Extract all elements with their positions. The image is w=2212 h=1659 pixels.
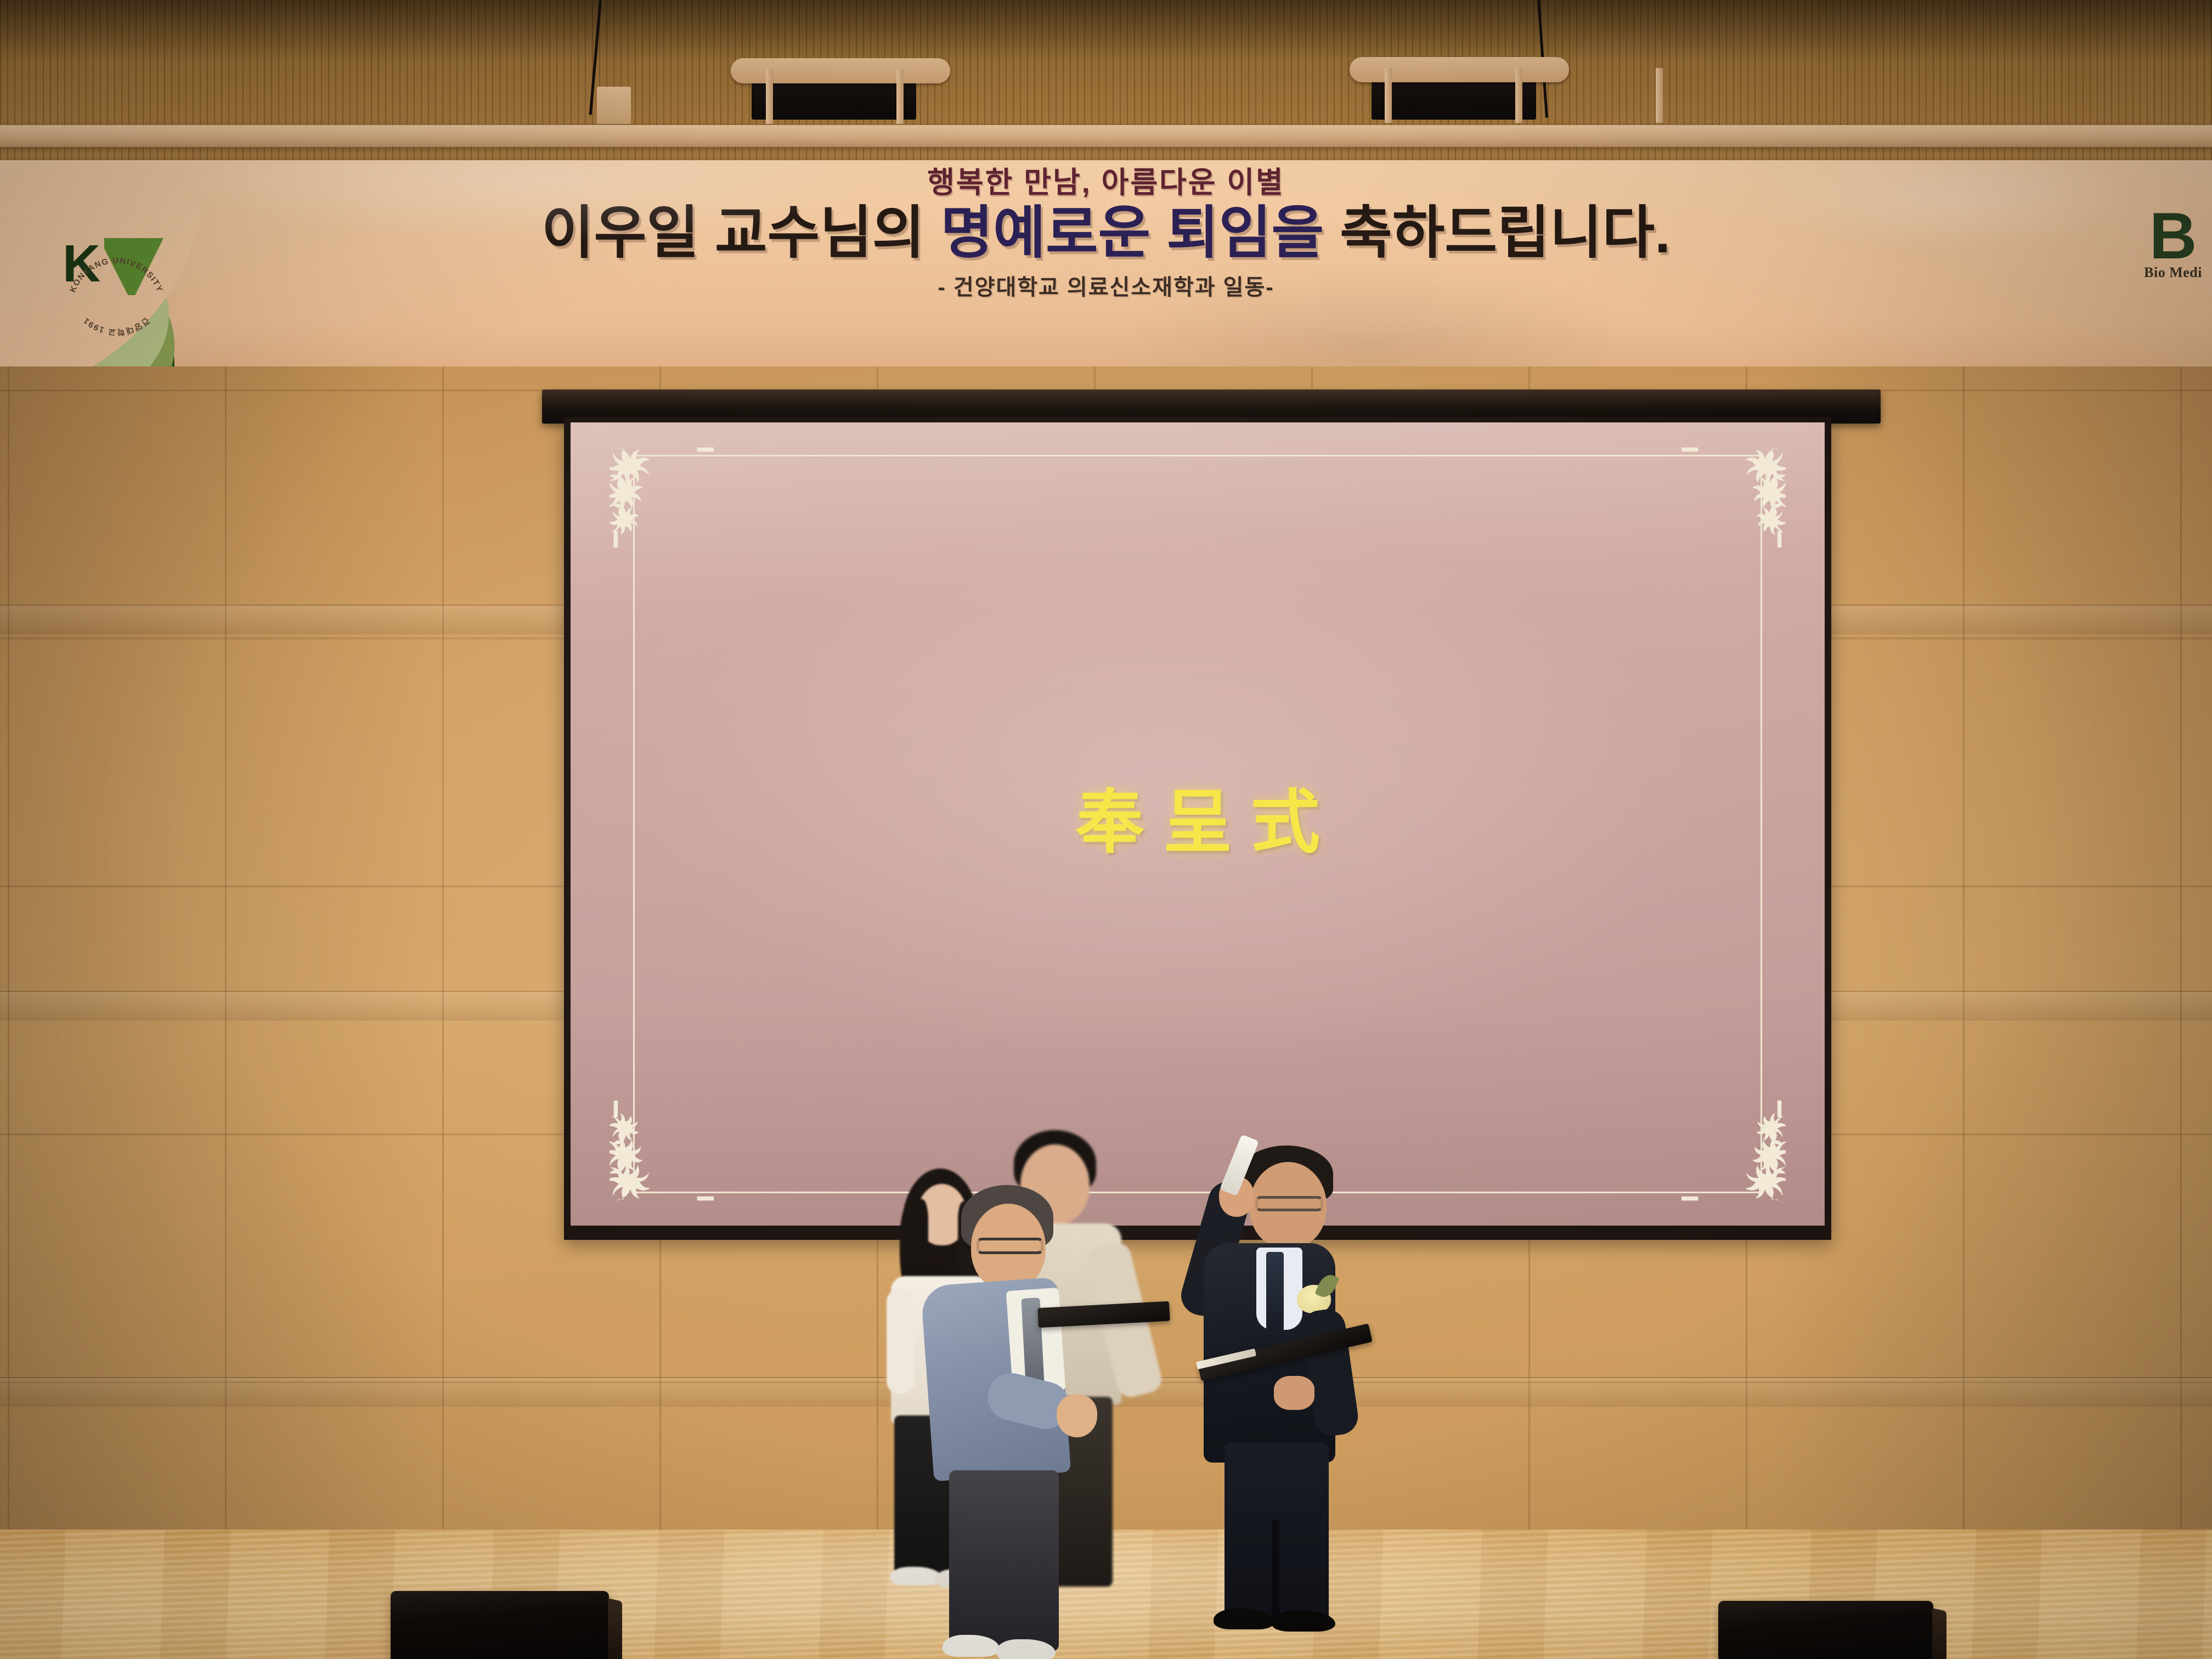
- person-retiring-professor: [927, 1185, 1114, 1640]
- glasses-icon: [977, 1238, 1043, 1254]
- stage-monitor-speaker-left: [391, 1591, 609, 1659]
- balcony-speaker-right: [1372, 77, 1536, 120]
- rail-post: [1656, 68, 1663, 123]
- balcony-rail-left: [731, 58, 950, 83]
- filigree-corner-ornament-icon: [1681, 1101, 1786, 1205]
- necktie: [1266, 1252, 1284, 1341]
- filigree-corner-ornament-icon: [610, 1101, 714, 1205]
- stage-monitor-speaker-right: [1718, 1601, 1933, 1659]
- balcony-block-small: [597, 87, 631, 124]
- filigree-corner-ornament-icon: [610, 443, 714, 548]
- projected-slide: 奉呈式: [571, 422, 1825, 1226]
- hand-holding-plaque: [1274, 1376, 1314, 1410]
- congratulations-banner: K KONYANG UNIVERSITY 건양대학교 1991 행복한 만남, …: [0, 160, 2212, 369]
- banner-headline-part3: 축하드립니다.: [1324, 201, 1671, 265]
- banner-footer: - 건양대학교 의료신소재학과 일동-: [0, 276, 2212, 298]
- glasses-icon: [1255, 1196, 1323, 1211]
- filigree-corner-ornament-icon: [1681, 443, 1786, 548]
- trousers: [949, 1470, 1059, 1651]
- hand: [1057, 1395, 1097, 1437]
- rail-post: [766, 69, 773, 124]
- monitor-side: [1932, 1608, 1946, 1659]
- balcony-rail-right: [1350, 57, 1569, 82]
- projection-screen: 奉呈式: [564, 417, 1831, 1240]
- trouser-gap: [1272, 1520, 1279, 1624]
- svg-text:건양대학교 1991: 건양대학교 1991: [81, 315, 151, 337]
- bio-medical-subtext: Bio Medi: [2144, 266, 2202, 280]
- rail-post: [1385, 68, 1392, 123]
- monitor-side: [608, 1598, 622, 1659]
- bio-medical-logo: B Bio Medi: [2144, 207, 2202, 280]
- banner-headline-part2: 명예로운 퇴임을: [941, 201, 1324, 265]
- bio-medical-letter-b: B: [2144, 207, 2202, 266]
- slide-title: 奉呈式: [571, 788, 1825, 857]
- rail-post: [1515, 68, 1522, 123]
- auditorium-stage-photo: K KONYANG UNIVERSITY 건양대학교 1991 행복한 만남, …: [0, 0, 2212, 1659]
- balcony-ledge: [0, 125, 2212, 147]
- banner-headline-part1: 이우일 교수님의: [541, 201, 941, 265]
- arm: [887, 1289, 914, 1393]
- rail-post: [896, 69, 904, 124]
- ceiling-shadow: [0, 0, 2212, 60]
- banner-subtitle: 행복한 만남, 아름다운 이별: [0, 168, 2212, 198]
- banner-headline: 이우일 교수님의 명예로운 퇴임을 축하드립니다.: [0, 201, 2212, 267]
